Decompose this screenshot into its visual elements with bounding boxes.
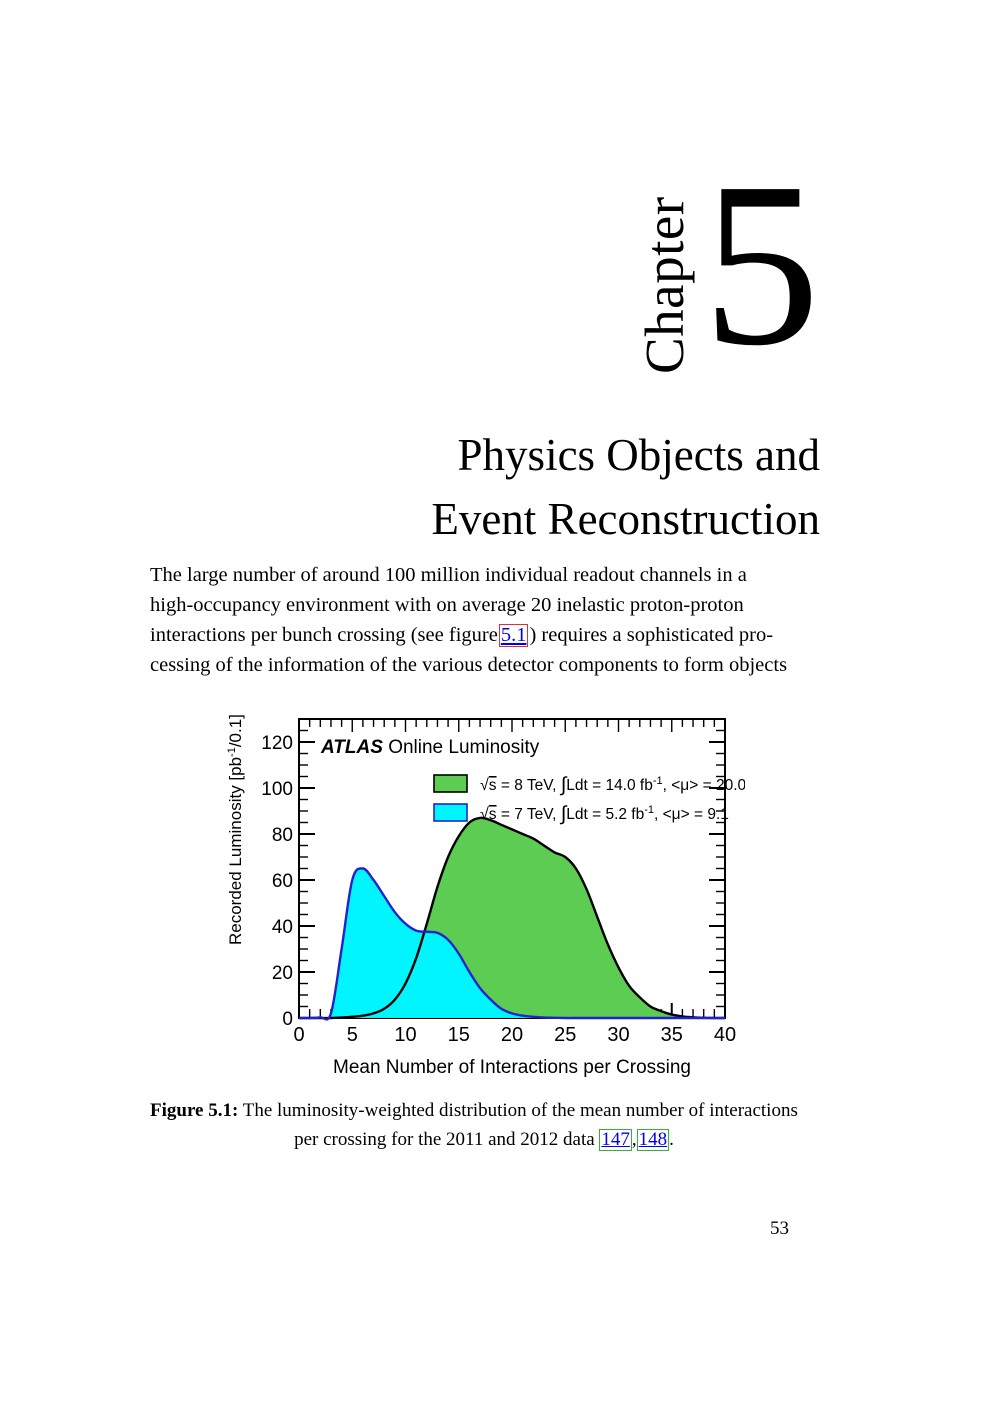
x-tick-25: 25: [554, 1024, 576, 1046]
y-tick-20: 20: [272, 963, 293, 984]
legend-label-7tev: √s = 7 TeV, ∫Ldt = 5.2 fb-1, <μ> = 9.1: [480, 803, 729, 825]
page-title-line-1: Physics Objects and: [150, 424, 820, 488]
y-axis-title-pre: Recorded Luminosity [pb: [226, 757, 245, 945]
x-axis-title: Mean Number of Interactions per Crossing: [333, 1057, 691, 1078]
y-axis-tick-labels: 0 20 40 60 80 100 120: [261, 733, 293, 1030]
figure-caption: Figure 5.1: The luminosity-weighted dist…: [150, 1096, 818, 1154]
document-page: Chapter 5 Physics Objects and Event Reco…: [0, 0, 1000, 1414]
caption-label: Figure 5.1:: [150, 1100, 238, 1121]
svg-text:Recorded Luminosity [pb-1/0.1]: Recorded Luminosity [pb-1/0.1]: [226, 714, 245, 945]
y-tick-120: 120: [261, 733, 293, 754]
body-line-2: high-occupancy environment with on avera…: [150, 590, 815, 620]
body-paragraph: The large number of around 100 million i…: [150, 560, 815, 680]
legend-swatch-7tev: [434, 804, 467, 821]
body-line-4: cessing of the information of the variou…: [150, 650, 815, 680]
y-tick-60: 60: [272, 871, 293, 892]
x-tick-15: 15: [448, 1024, 470, 1046]
x-tick-30: 30: [607, 1024, 629, 1046]
body-line-3-pre: interactions per bunch crossing (see fig…: [150, 624, 498, 646]
legend-entry-8tev[interactable]: √s = 8 TeV, ∫Ldt = 14.0 fb-1, <μ> = 20.0: [434, 774, 745, 796]
page-number: 53: [770, 1218, 789, 1240]
figure-5-1: Recorded Luminosity [pb-1/0.1] 0 20 40 6…: [225, 700, 745, 1085]
y-tick-0: 0: [282, 1009, 293, 1030]
y-tick-40: 40: [272, 917, 293, 938]
body-line-1: The large number of around 100 million i…: [150, 560, 815, 590]
x-axis-tick-labels: 0 5 10 15 20 25 30 35 40: [293, 1024, 736, 1046]
chart-title-rest: Online Luminosity: [383, 737, 540, 758]
legend-label-8tev: √s = 8 TeV, ∫Ldt = 14.0 fb-1, <μ> = 20.0: [480, 774, 745, 796]
caption-line-1: Figure 5.1: The luminosity-weighted dist…: [150, 1096, 818, 1125]
x-tick-10: 10: [394, 1024, 416, 1046]
y-axis-title-sup: -1: [226, 747, 238, 757]
chart-title-atlas: ATLAS: [320, 737, 383, 758]
y-axis-title-post: /0.1]: [226, 714, 245, 747]
y-tick-100: 100: [261, 779, 293, 800]
citation-link-147[interactable]: 147: [599, 1129, 632, 1151]
y-tick-80: 80: [272, 825, 293, 846]
page-title-line-2: Event Reconstruction: [150, 488, 820, 552]
figure-reference-link[interactable]: 5.1: [499, 624, 529, 647]
chart-title: ATLAS Online Luminosity: [320, 737, 540, 758]
citation-link-148[interactable]: 148: [637, 1129, 670, 1151]
chapter-heading: Chapter 5: [560, 185, 820, 400]
x-tick-40: 40: [714, 1024, 736, 1046]
x-tick-20: 20: [501, 1024, 523, 1046]
legend-swatch-8tev: [434, 775, 467, 792]
x-tick-0: 0: [293, 1024, 304, 1046]
luminosity-chart: Recorded Luminosity [pb-1/0.1] 0 20 40 6…: [225, 700, 745, 1085]
body-line-3: interactions per bunch crossing (see fig…: [150, 620, 815, 650]
x-tick-5: 5: [347, 1024, 358, 1046]
chapter-word: Chapter: [637, 185, 692, 385]
x-tick-35: 35: [661, 1024, 683, 1046]
caption-line-2: per crossing for the 2011 and 2012 data …: [150, 1125, 818, 1154]
caption-text-2: per crossing for the 2011 and 2012 data: [294, 1129, 595, 1150]
caption-period: .: [669, 1129, 674, 1150]
body-line-3-post: ) requires a sophisticated pro-: [529, 624, 773, 646]
y-axis-title: Recorded Luminosity [pb-1/0.1]: [226, 714, 245, 945]
caption-text-1: The luminosity-weighted distribution of …: [243, 1100, 798, 1121]
page-title: Physics Objects and Event Reconstruction: [150, 424, 820, 552]
chapter-number: 5: [703, 147, 821, 382]
